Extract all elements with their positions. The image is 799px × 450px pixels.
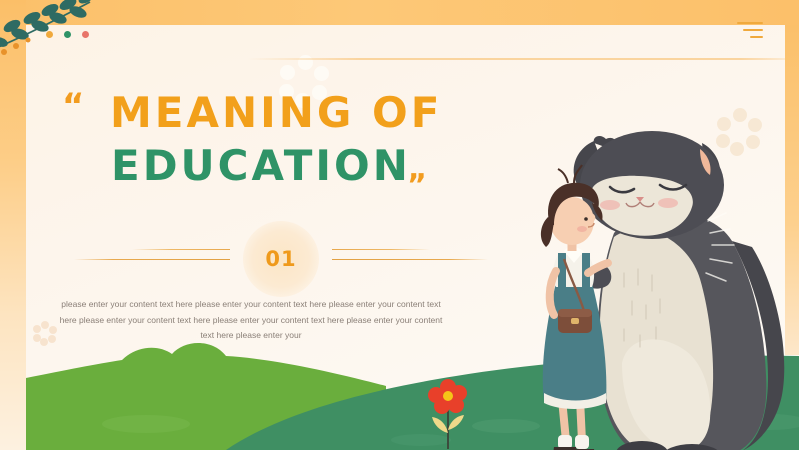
frame-right [785,25,799,355]
quote-open-icon: “ [62,89,84,123]
frame-left [0,0,26,450]
dot-orange [46,31,53,38]
slide: “ ” MEANING OF EDUCATION 01 please enter… [0,0,799,450]
divider-line-left-bottom [74,259,230,260]
section-number-label: 01 [243,221,319,297]
divider-line-left-top [132,249,230,250]
page-title: MEANING OF EDUCATION [110,86,442,192]
body-text: please enter your content text here plea… [56,297,446,344]
header-rule [248,58,799,60]
decorative-dots [46,31,89,38]
menu-line-2 [743,29,763,31]
title-line-1: MEANING OF [110,86,442,139]
menu-line-1 [737,22,763,24]
dot-salmon [82,31,89,38]
title-line-2: EDUCATION [111,139,442,192]
section-number-divider: 01 [74,221,434,297]
cat-and-girl-illustration [496,113,799,450]
divider-line-right-bottom [332,259,488,260]
red-flower-icon [418,373,478,450]
menu-line-3 [750,36,763,38]
olive-branch-icon [0,0,124,60]
dot-green [64,31,71,38]
hamburger-menu-icon[interactable] [737,22,763,38]
slide-card: “ ” MEANING OF EDUCATION 01 please enter… [26,25,799,450]
divider-line-right-top [332,249,430,250]
